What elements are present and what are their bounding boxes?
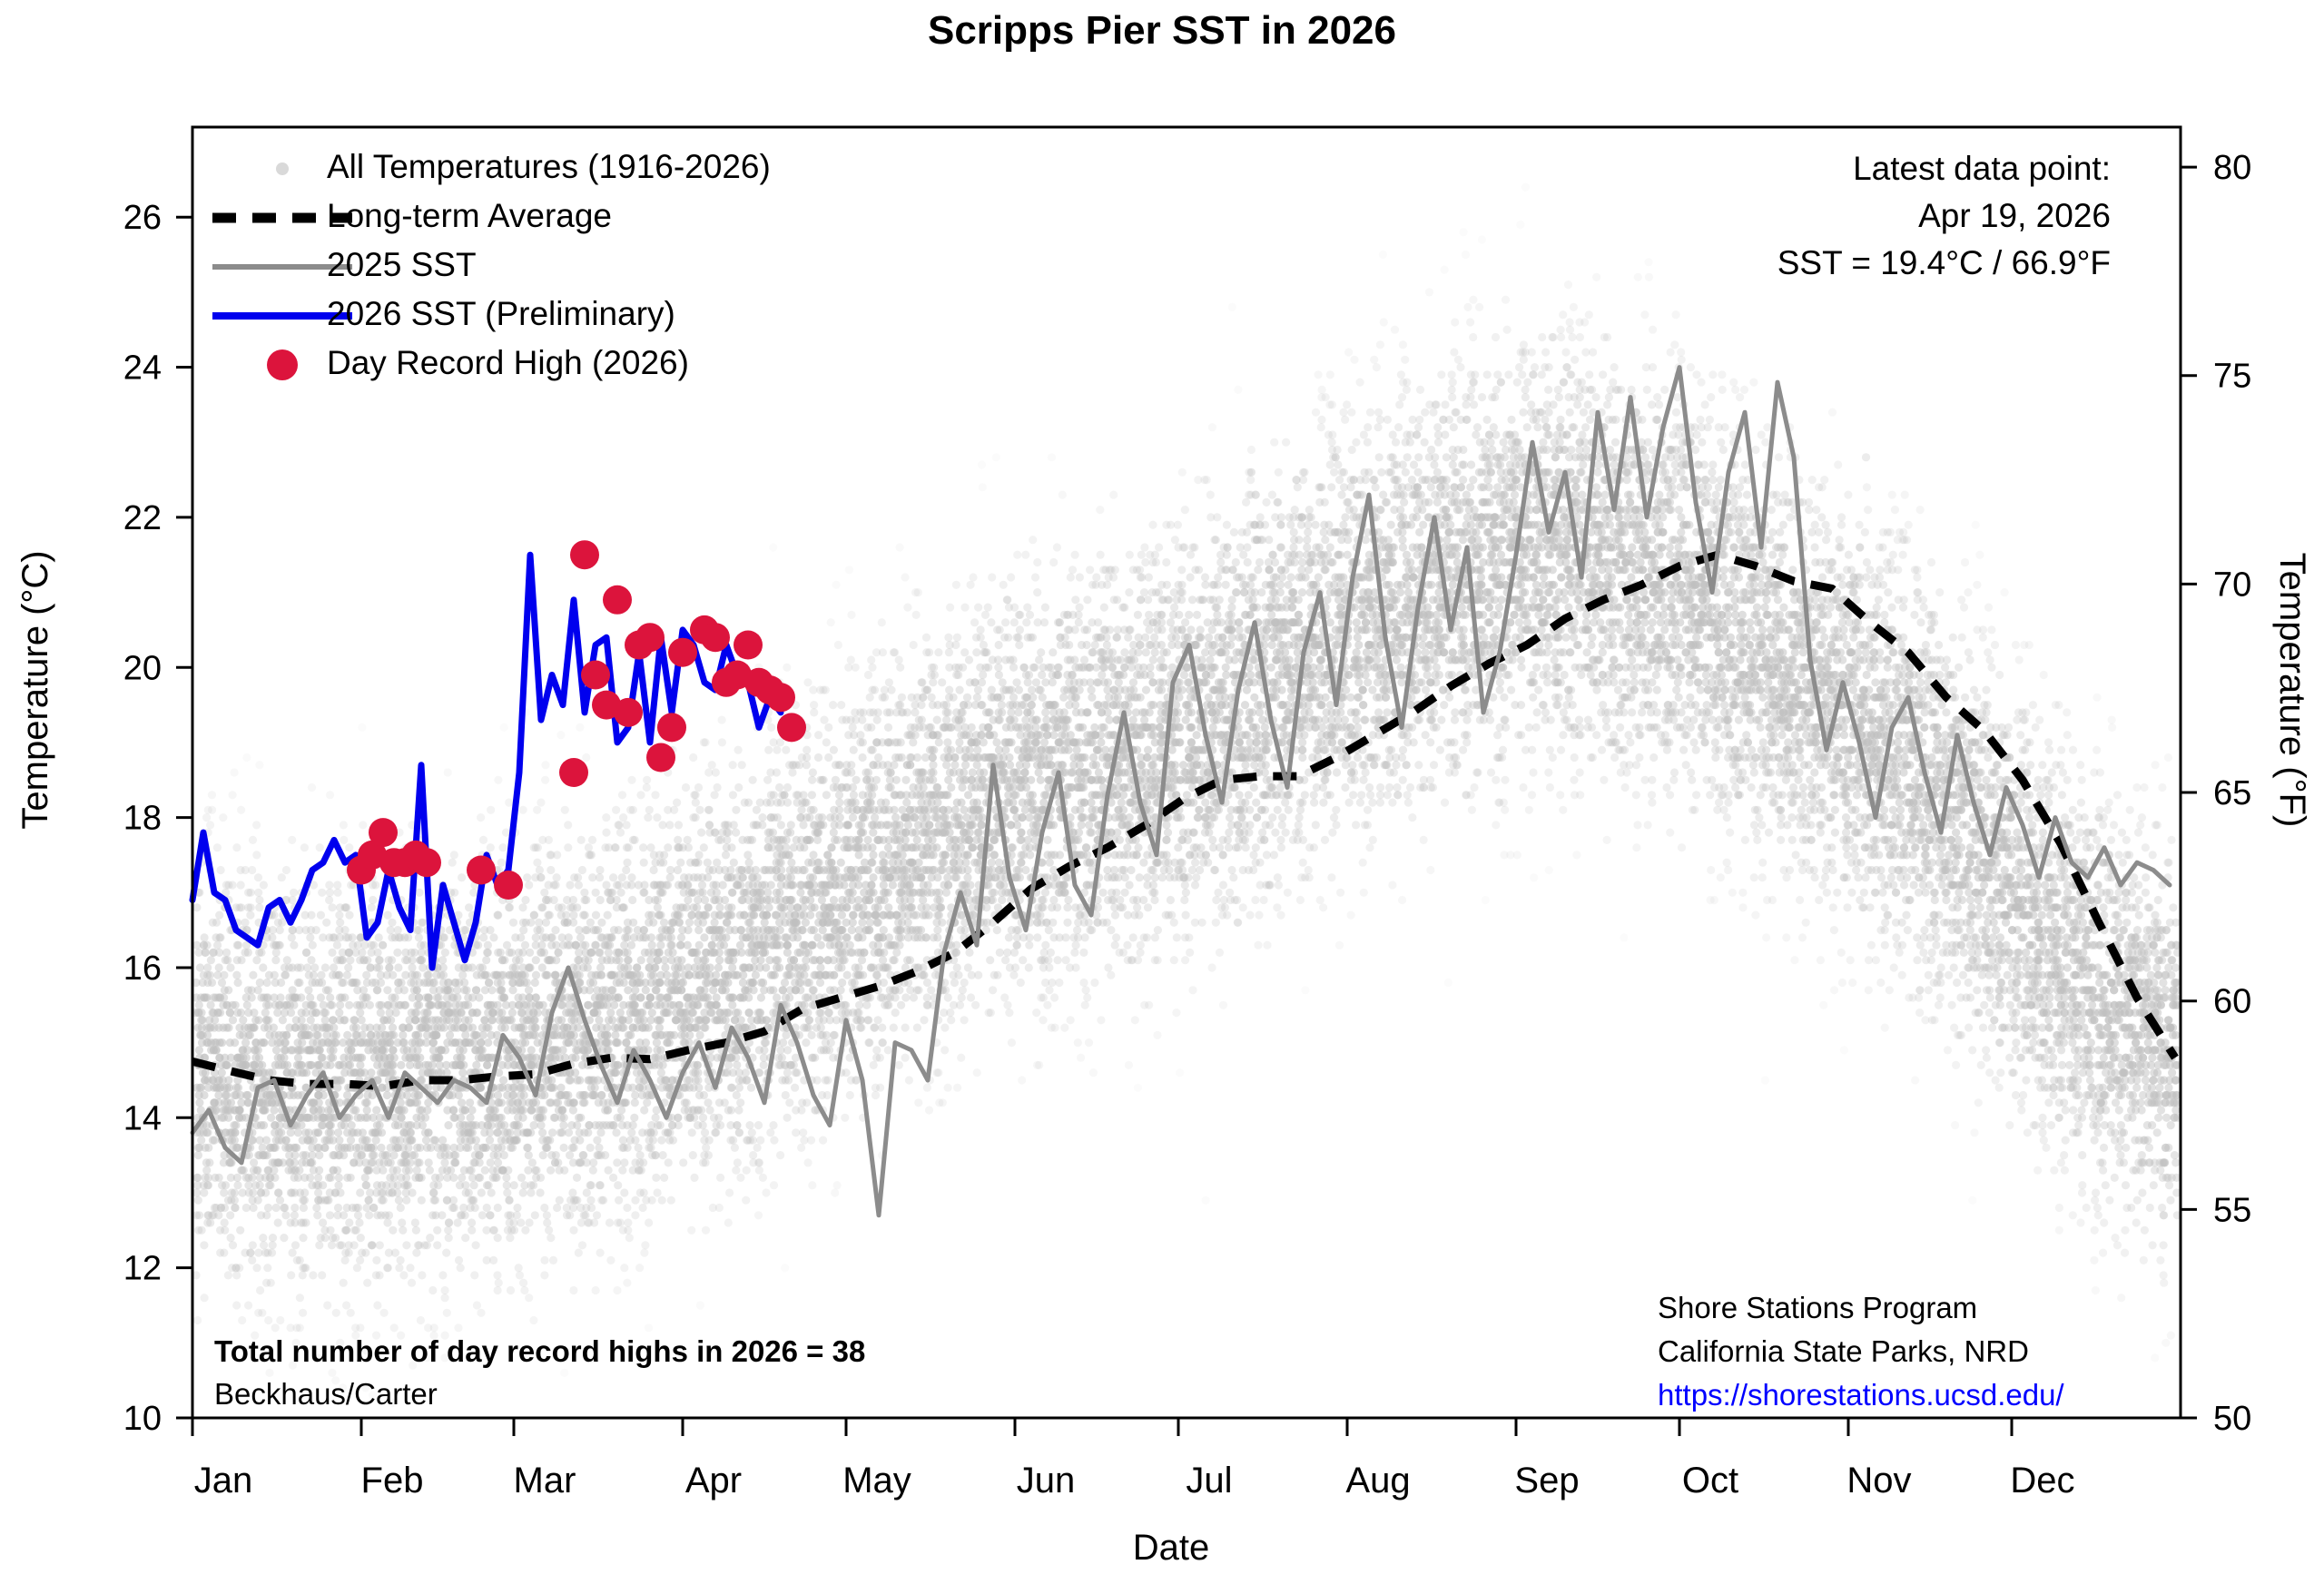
y-tick-label-celsius: 18 bbox=[123, 800, 162, 838]
x-tick-label-month: Oct bbox=[1682, 1461, 1738, 1501]
y-tick-label-fahrenheit: 55 bbox=[2213, 1191, 2251, 1229]
record-high-point bbox=[581, 661, 610, 690]
record-high-point bbox=[657, 713, 686, 742]
record-high-point bbox=[603, 585, 632, 615]
y-tick-label-celsius: 16 bbox=[123, 950, 162, 988]
x-tick-label-month: Jul bbox=[1186, 1461, 1232, 1501]
record-total-label: Total number of day record highs in 2026… bbox=[214, 1334, 865, 1368]
x-tick-label-month: Jan bbox=[194, 1461, 253, 1501]
legend-item-label: 2025 SST bbox=[327, 246, 477, 283]
x-tick-label-month: Feb bbox=[361, 1461, 424, 1501]
legend-record-dot-icon bbox=[267, 349, 298, 380]
y-tick-label-fahrenheit: 50 bbox=[2213, 1400, 2251, 1438]
record-high-point bbox=[668, 638, 697, 667]
record-high-point bbox=[412, 848, 441, 877]
latest-data-point-line2: Apr 19, 2026 bbox=[1918, 197, 2111, 234]
record-high-point bbox=[777, 713, 806, 742]
y-axis-left-title: Temperature (°C) bbox=[15, 550, 55, 829]
record-high-point bbox=[369, 818, 398, 847]
latest-data-point-line3: SST = 19.4°C / 66.9°F bbox=[1777, 244, 2111, 281]
record-high-point bbox=[494, 871, 523, 900]
x-tick-label-month: May bbox=[842, 1461, 911, 1501]
sst-chart: Scripps Pier SST in 2026 101214161820222… bbox=[0, 0, 2324, 1594]
credit-line-1: Shore Stations Program bbox=[1658, 1291, 1977, 1324]
y-tick-label-celsius: 12 bbox=[123, 1250, 162, 1288]
record-high-point bbox=[467, 856, 496, 885]
chart-page: Scripps Pier SST in 2026 101214161820222… bbox=[0, 0, 2324, 1594]
credit-line-2: California State Parks, NRD bbox=[1658, 1334, 2029, 1368]
record-high-point bbox=[570, 540, 599, 569]
x-tick-label-month: Mar bbox=[514, 1461, 576, 1501]
credit-url-link[interactable]: https://shorestations.ucsd.edu/ bbox=[1658, 1378, 2064, 1412]
y-tick-label-fahrenheit: 75 bbox=[2213, 358, 2251, 396]
y-axis-right-title: Temperature (°F) bbox=[2272, 553, 2312, 828]
y-tick-label-celsius: 20 bbox=[123, 649, 162, 687]
latest-data-point-line1: Latest data point: bbox=[1853, 150, 2111, 187]
x-tick-label-month: Nov bbox=[1846, 1461, 1911, 1501]
y-tick-label-fahrenheit: 65 bbox=[2213, 774, 2251, 812]
x-tick-label-month: Dec bbox=[2010, 1461, 2074, 1501]
legend-item-label: 2026 SST (Preliminary) bbox=[327, 295, 675, 332]
legend-scatter-dot-icon bbox=[276, 162, 289, 175]
x-axis-title: Date bbox=[1133, 1528, 1210, 1568]
y-tick-label-fahrenheit: 80 bbox=[2213, 149, 2251, 187]
record-high-point bbox=[614, 698, 643, 727]
authors-label: Beckhaus/Carter bbox=[214, 1377, 438, 1411]
x-tick-label-month: Jun bbox=[1017, 1461, 1076, 1501]
x-tick-label-month: Sep bbox=[1514, 1461, 1579, 1501]
y-tick-label-celsius: 14 bbox=[123, 1099, 162, 1137]
record-high-point bbox=[766, 683, 795, 712]
legend-item: Day Record High (2026) bbox=[267, 344, 689, 381]
y-tick-label-celsius: 22 bbox=[123, 499, 162, 537]
x-tick-label-month: Apr bbox=[685, 1461, 742, 1501]
legend-item-label: Day Record High (2026) bbox=[327, 344, 689, 381]
y-tick-label-fahrenheit: 70 bbox=[2213, 566, 2251, 604]
y-tick-label-fahrenheit: 60 bbox=[2213, 983, 2251, 1021]
record-high-point bbox=[701, 623, 730, 652]
record-high-point bbox=[635, 623, 665, 652]
y-tick-label-celsius: 24 bbox=[123, 349, 162, 388]
legend-item-label: Long-term Average bbox=[327, 197, 612, 234]
legend-item-label: All Temperatures (1916-2026) bbox=[327, 148, 771, 185]
record-high-point bbox=[559, 758, 588, 787]
record-high-point bbox=[734, 631, 763, 660]
x-tick-label-month: Aug bbox=[1345, 1461, 1410, 1501]
record-high-point bbox=[646, 743, 675, 772]
y-tick-label-celsius: 10 bbox=[123, 1400, 162, 1438]
y-tick-label-celsius: 26 bbox=[123, 199, 162, 237]
chart-title: Scripps Pier SST in 2026 bbox=[928, 8, 1396, 53]
legend-item: All Temperatures (1916-2026) bbox=[276, 148, 771, 185]
